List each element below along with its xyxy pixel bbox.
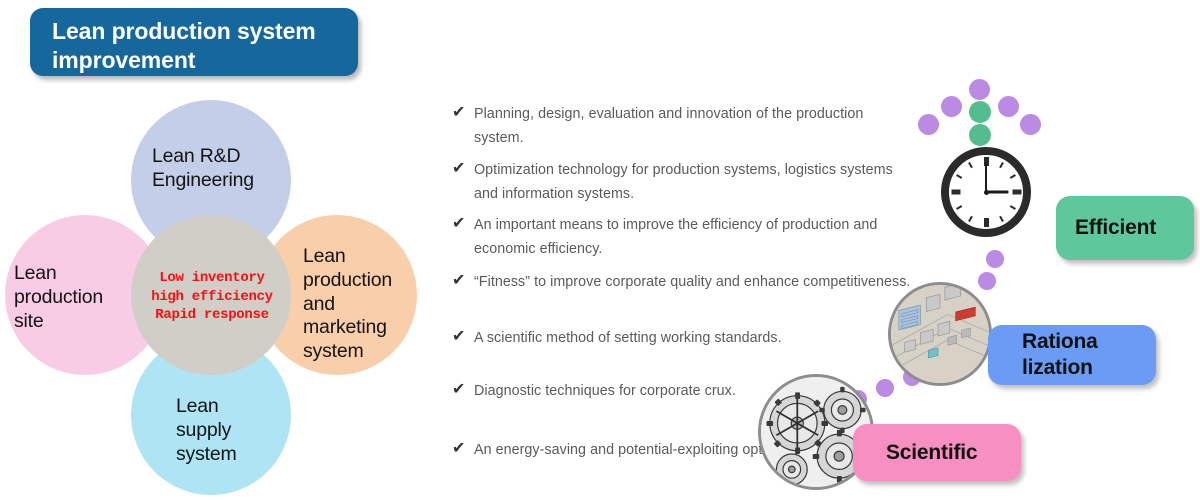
decorative-dot (998, 96, 1019, 117)
list-item: ✔ Diagnostic techniques for corporate cr… (452, 379, 736, 403)
badge-scientific-label: Scientific (886, 440, 977, 466)
check-icon: ✔ (452, 270, 474, 291)
badge-efficient[interactable]: Efficient (1056, 196, 1194, 260)
check-icon: ✔ (452, 102, 474, 123)
badge-rationalization-label: Rationa lization (1022, 329, 1098, 380)
list-item: ✔ “Fitness” to improve corporate quality… (452, 270, 910, 294)
decorative-dot (941, 96, 962, 117)
check-icon: ✔ (452, 326, 474, 347)
decorative-dot (969, 124, 991, 146)
decorative-dot (978, 272, 996, 290)
list-item: ✔ Planning, design, evaluation and innov… (452, 102, 863, 150)
list-item-text: A scientific method of setting working s… (474, 326, 782, 350)
list-item: ✔ Optimization technology for production… (452, 158, 893, 206)
check-icon: ✔ (452, 213, 474, 234)
page-title: Lean production system improvement (52, 17, 340, 76)
badge-efficient-label: Efficient (1075, 215, 1156, 241)
factory-layout-photo (888, 282, 992, 386)
decorative-dot (969, 79, 990, 100)
badge-scientific[interactable]: Scientific (853, 424, 1021, 481)
decorative-dot (876, 379, 894, 397)
decorative-dot (986, 250, 1004, 268)
clock-icon (941, 147, 1031, 237)
clock-center-pin (984, 190, 989, 195)
decorative-dot (1020, 114, 1041, 135)
page-title-badge: Lean production system improvement (30, 8, 358, 76)
clock-hour-hand (986, 191, 1008, 194)
list-item-text: Diagnostic techniques for corporate crux… (474, 379, 736, 403)
venn-center-text: Low inventory high efficiency Rapid resp… (146, 269, 278, 325)
badge-rationalization[interactable]: Rationa lization (988, 325, 1156, 385)
decorative-dot (918, 114, 939, 135)
list-item: ✔ An important means to improve the effi… (452, 213, 877, 261)
venn-diagram: Lean R&D Engineering Lean production sit… (0, 90, 440, 500)
venn-label-lean-rd-engineering: Lean R&D Engineering (152, 145, 277, 193)
decorative-dot (969, 101, 991, 123)
venn-label-lean-production-site: Lean production site (14, 262, 132, 333)
check-icon: ✔ (452, 438, 474, 459)
check-icon: ✔ (452, 158, 474, 179)
list-item-text: “Fitness” to improve corporate quality a… (474, 270, 910, 294)
clock-minute-hand (985, 162, 988, 192)
venn-label-lean-supply-system: Lean supply system (176, 395, 272, 466)
list-item-text: An important means to improve the effici… (474, 213, 877, 261)
venn-label-lean-production-marketing: Lean production and marketing system (303, 245, 407, 364)
check-icon: ✔ (452, 379, 474, 400)
list-item: ✔ A scientific method of setting working… (452, 326, 782, 350)
list-item-text: Planning, design, evaluation and innovat… (474, 102, 863, 150)
list-item-text: Optimization technology for production s… (474, 158, 893, 206)
